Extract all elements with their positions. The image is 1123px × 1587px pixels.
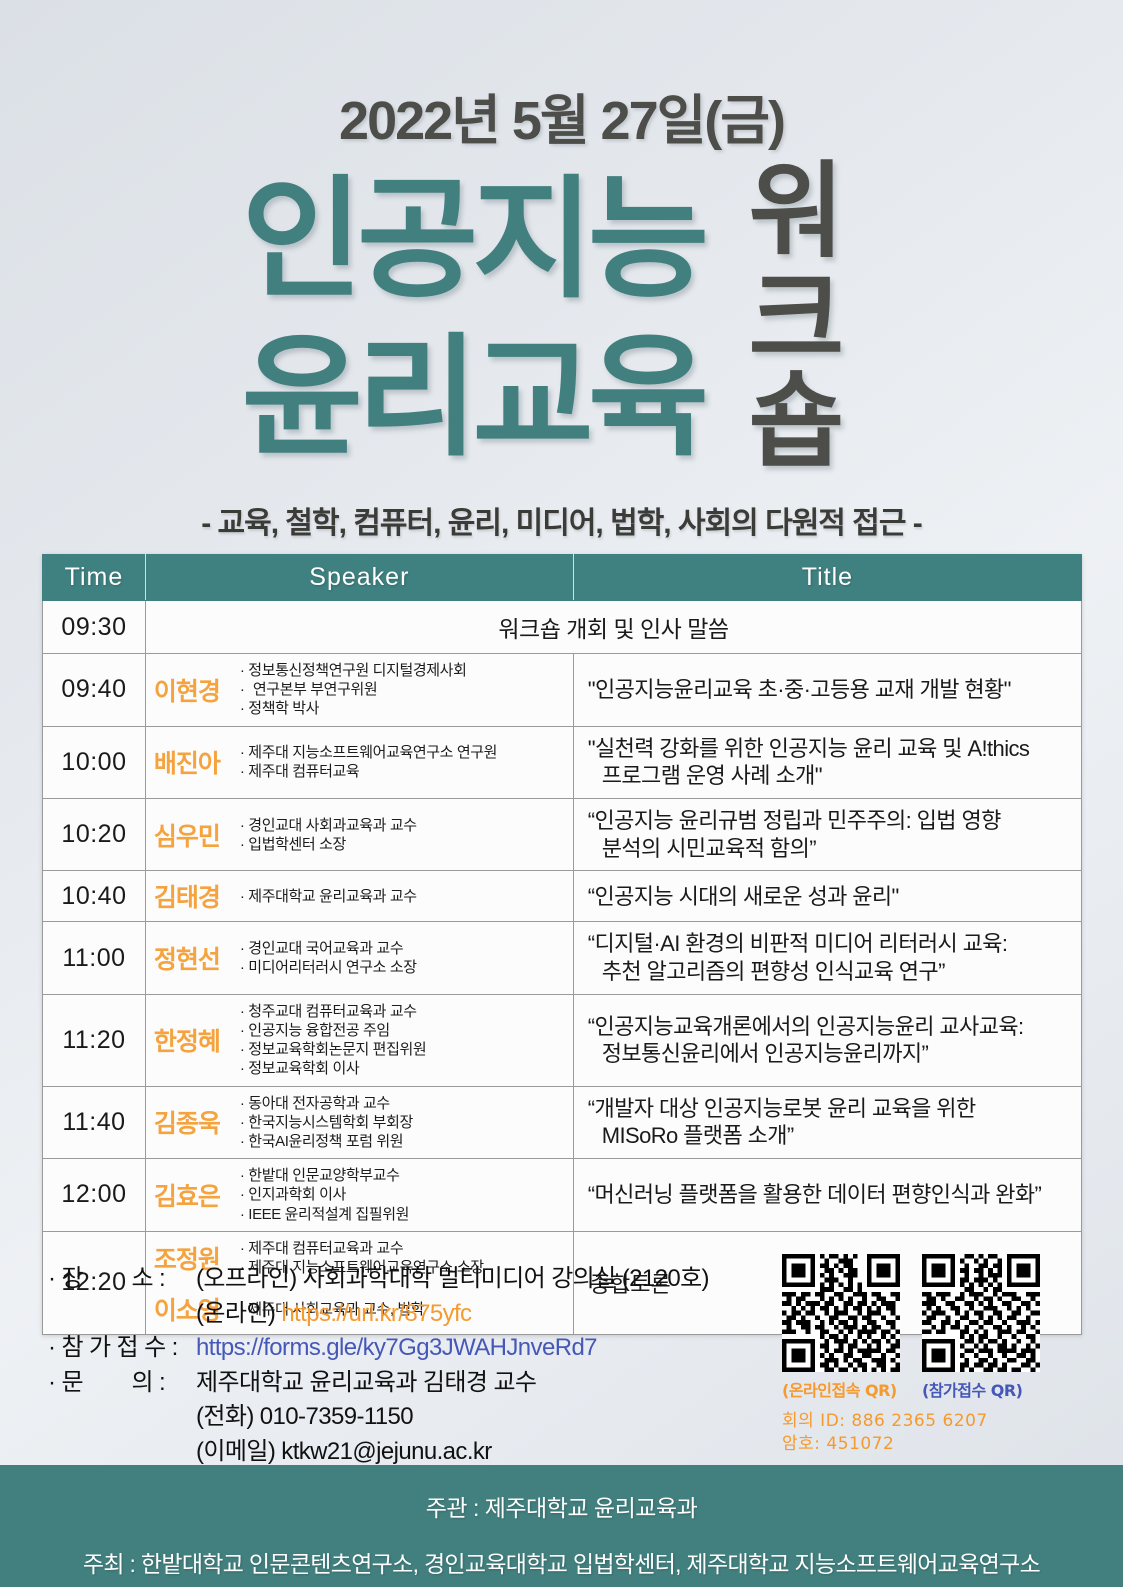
title-line-ai: 인공지능 xyxy=(242,174,704,306)
event-info: · 장 소 : (오프라인) 사회과학대학 멀티미디어 강의실 (2120호) … xyxy=(48,1262,788,1469)
affiliation-line: 미디어리터러시 연구소 소장 xyxy=(240,958,417,977)
session-time: 09:30 xyxy=(43,601,146,654)
register-label: · 참 가 접 수 : xyxy=(48,1331,196,1366)
affiliation-line: 인지과학회 이사 xyxy=(240,1185,409,1204)
session-speaker-cell: 김종욱 동아대 전자공학과 교수 한국지능시스템학회 부회장 한국AI윤리정책 … xyxy=(145,1086,573,1159)
column-header-speaker: Speaker xyxy=(145,555,573,601)
speaker-affiliations: 정보통신정책연구원 디지털경제사회 ·연구본부 부연구위원 정책학 박사 xyxy=(240,661,467,719)
table-row: 11:00 정현선 경인교대 국어교육과 교수 미디어리터러시 연구소 소장 “… xyxy=(43,922,1082,994)
speaker-name: 심우민 xyxy=(154,817,232,853)
session-time: 11:00 xyxy=(43,922,146,994)
speaker-affiliations: 청주교대 컴퓨터교육과 교수 인공지능 융합전공 주임 정보교육학회논문지 편집… xyxy=(240,1002,426,1079)
table-row: 11:20 한정혜 청주교대 컴퓨터교육과 교수 인공지능 융합전공 주임 정보… xyxy=(43,994,1082,1086)
speaker-entry: 김태경 제주대학교 윤리교육과 교수 xyxy=(154,878,567,914)
affiliation-line: 제주대학교 윤리교육과 교수 xyxy=(240,887,417,906)
affiliation-line: 한국AI윤리정책 포럼 위원 xyxy=(240,1132,413,1151)
contact-person: 제주대학교 윤리교육과 김태경 교수 xyxy=(196,1366,536,1401)
session-time: 12:00 xyxy=(43,1159,146,1232)
title-line-ethics-education: 윤리교육 xyxy=(242,332,704,464)
session-speaker-cell: 배진아 제주대 지능소프트웨어교육연구소 연구원 제주대 컴퓨터교육 xyxy=(145,726,573,798)
venue-online-row: (온라인) https://url.kr/875yfc xyxy=(48,1297,788,1332)
speaker-name: 김태경 xyxy=(154,878,232,914)
qr-register-caption: (참가접수 QR) xyxy=(922,1377,1040,1401)
speaker-name: 김효은 xyxy=(154,1177,232,1213)
session-title-line: "실천력 강화를 위한 인공지능 윤리 교육 및 A!thics xyxy=(588,735,1071,763)
table-row: 09:40 이현경 정보통신정책연구원 디지털경제사회 ·연구본부 부연구위원 … xyxy=(43,654,1082,727)
session-title-cell: “디지털·AI 환경의 비판적 미디어 리터러시 교육: 추천 알고리즘의 편향… xyxy=(573,922,1081,994)
session-title-line: “개발자 대상 인공지능로봇 윤리 교육을 위한 xyxy=(588,1095,1071,1123)
affiliation-line: 청주교대 컴퓨터교육과 교수 xyxy=(240,1002,426,1021)
affiliation-line: 정보교육학회논문지 편집위원 xyxy=(240,1040,426,1059)
qr-code-online-icon[interactable] xyxy=(782,1254,900,1372)
venue-online-url[interactable]: https://url.kr/875yfc xyxy=(281,1300,471,1327)
affiliation-line: 정보교육학회 이사 xyxy=(240,1059,426,1078)
meeting-passcode: 암호: 451072 xyxy=(782,1433,1082,1456)
affiliation-line: 정보통신정책연구원 디지털경제사회 xyxy=(240,661,467,680)
qr-code-register-icon[interactable] xyxy=(922,1254,1040,1372)
qr-section: (온라인접속 QR) xyxy=(782,1254,1082,1456)
contact-row: · 문 의 : 제주대학교 윤리교육과 김태경 교수 xyxy=(48,1366,788,1401)
affiliation-line: 경인교대 국어교육과 교수 xyxy=(240,939,417,958)
session-time: 10:40 xyxy=(43,871,146,922)
table-header-row: Time Speaker Title xyxy=(43,555,1082,601)
speaker-entry: 정현선 경인교대 국어교육과 교수 미디어리터러시 연구소 소장 xyxy=(154,939,567,977)
speaker-affiliations: 제주대 지능소프트웨어교육연구소 연구원 제주대 컴퓨터교육 xyxy=(240,743,497,781)
register-url[interactable]: https://forms.gle/ky7Gg3JWAHJnveRd7 xyxy=(196,1331,597,1366)
qr-online-caption: (온라인접속 QR) xyxy=(782,1377,900,1401)
session-speaker-cell: 한정혜 청주교대 컴퓨터교육과 교수 인공지능 융합전공 주임 정보교육학회논문… xyxy=(145,994,573,1086)
footer-organizers: 주최 : 한밭대학교 인문콘텐츠연구소, 경인교육대학교 입법학센터, 제주대학… xyxy=(0,1545,1123,1579)
speaker-affiliations: 동아대 전자공학과 교수 한국지능시스템학회 부회장 한국AI윤리정책 포럼 위… xyxy=(240,1094,413,1152)
speaker-affiliations: 제주대학교 윤리교육과 교수 xyxy=(240,887,417,906)
affiliation-line: 인공지능 융합전공 주임 xyxy=(240,1021,426,1040)
session-title-line: "인공지능윤리교육 초·중·고등용 교재 개발 현황" xyxy=(588,676,1071,704)
session-title-line: “머신러닝 플랫폼을 활용한 데이터 편향인식과 완화” xyxy=(588,1181,1071,1209)
affiliation-line-cont: ·연구본부 부연구위원 xyxy=(240,680,467,699)
qr-online-block: (온라인접속 QR) xyxy=(782,1254,900,1401)
session-title-cell: “인공지능 윤리규범 정립과 민주주의: 입법 영향 분석의 시민교육적 함의” xyxy=(573,799,1081,871)
event-date: 2022년 5월 27일(금) xyxy=(0,76,1123,155)
speaker-affiliations: 경인교대 사회과교육과 교수 입법학센터 소장 xyxy=(240,816,417,854)
table-row: 12:00 김효은 한밭대 인문교양학부교수 인지과학회 이사 IEEE 윤리적… xyxy=(43,1159,1082,1232)
speaker-name: 배진아 xyxy=(154,744,232,780)
session-title-cell: “개발자 대상 인공지능로봇 윤리 교육을 위한 MISoRo 플랫폼 소개” xyxy=(573,1086,1081,1159)
session-time: 11:20 xyxy=(43,994,146,1086)
affiliation-line: 입법학센터 소장 xyxy=(240,835,417,854)
contact-phone: (전화) 010-7359-1150 xyxy=(48,1400,788,1435)
session-speaker-cell: 김태경 제주대학교 윤리교육과 교수 xyxy=(145,871,573,922)
poster-subtitle: - 교육, 철학, 컴퓨터, 윤리, 미디어, 법학, 사회의 다원적 접근 - xyxy=(0,498,1123,542)
column-header-title: Title xyxy=(573,555,1081,601)
title-char-syop: 숍 xyxy=(749,370,841,474)
affiliation-line: 제주대 컴퓨터교육과 교수 xyxy=(240,1239,484,1258)
speaker-affiliations: 경인교대 국어교육과 교수 미디어리터러시 연구소 소장 xyxy=(240,939,417,977)
speaker-affiliations: 한밭대 인문교양학부교수 인지과학회 이사 IEEE 윤리적설계 집필위원 xyxy=(240,1166,409,1224)
session-title-cell: “인공지능 시대의 새로운 성과 윤리" xyxy=(573,871,1081,922)
session-speaker-cell: 심우민 경인교대 사회과교육과 교수 입법학센터 소장 xyxy=(145,799,573,871)
session-time: 11:40 xyxy=(43,1086,146,1159)
session-title-cell: "인공지능윤리교육 초·중·고등용 교재 개발 현황" xyxy=(573,654,1081,727)
session-title-line: “인공지능 윤리규범 정립과 민주주의: 입법 영향 xyxy=(588,807,1071,835)
session-title-line: “디지털·AI 환경의 비판적 미디어 리터러시 교육: xyxy=(588,930,1071,958)
session-title-cell: “인공지능교육개론에서의 인공지능윤리 교사교육: 정보통신윤리에서 인공지능윤… xyxy=(573,994,1081,1086)
session-speaker-cell: 정현선 경인교대 국어교육과 교수 미디어리터러시 연구소 소장 xyxy=(145,922,573,994)
session-time: 10:00 xyxy=(43,726,146,798)
session-title-line: 분석의 시민교육적 함의” xyxy=(588,835,1071,863)
speaker-name: 김종욱 xyxy=(154,1104,232,1140)
speaker-entry: 김종욱 동아대 전자공학과 교수 한국지능시스템학회 부회장 한국AI윤리정책 … xyxy=(154,1094,567,1152)
meeting-credentials: 회의 ID: 886 2365 6207 암호: 451072 xyxy=(782,1410,1082,1456)
meeting-id: 회의 ID: 886 2365 6207 xyxy=(782,1410,1082,1433)
session-speaker-cell: 이현경 정보통신정책연구원 디지털경제사회 ·연구본부 부연구위원 정책학 박사 xyxy=(145,654,573,727)
table-row: 10:20 심우민 경인교대 사회과교육과 교수 입법학센터 소장 “인공지능 … xyxy=(43,799,1082,871)
speaker-entry: 배진아 제주대 지능소프트웨어교육연구소 연구원 제주대 컴퓨터교육 xyxy=(154,743,567,781)
session-title-cell: “머신러닝 플랫폼을 활용한 데이터 편향인식과 완화” xyxy=(573,1159,1081,1232)
session-title-line: 프로그램 운영 사례 소개" xyxy=(588,762,1071,790)
session-title-line: MISoRo 플랫폼 소개” xyxy=(588,1122,1071,1150)
qr-register-block: (참가접수 QR) xyxy=(922,1254,1040,1401)
venue-offline: (오프라인) 사회과학대학 멀티미디어 강의실 (2120호) xyxy=(196,1262,709,1297)
session-title-line: “인공지능교육개론에서의 인공지능윤리 교사교육: xyxy=(588,1013,1071,1041)
session-title-cell: "실천력 강화를 위한 인공지능 윤리 교육 및 A!thics 프로그램 운영… xyxy=(573,726,1081,798)
affiliation-line: IEEE 윤리적설계 집필위원 xyxy=(240,1205,409,1224)
venue-online-label: (온라인) xyxy=(196,1300,275,1327)
affiliation-line: 한밭대 인문교양학부교수 xyxy=(240,1166,409,1185)
title-char-wo: 워 xyxy=(749,160,841,264)
table-row: 11:40 김종욱 동아대 전자공학과 교수 한국지능시스템학회 부회장 한국A… xyxy=(43,1086,1082,1159)
table-row: 09:30 워크숍 개회 및 인사 말씀 xyxy=(43,601,1082,654)
register-row: · 참 가 접 수 : https://forms.gle/ky7Gg3JWAH… xyxy=(48,1331,788,1366)
table-row: 10:00 배진아 제주대 지능소프트웨어교육연구소 연구원 제주대 컴퓨터교육… xyxy=(43,726,1082,798)
session-time: 09:40 xyxy=(43,654,146,727)
affiliation-line: 정책학 박사 xyxy=(240,699,467,718)
session-title-line: 정보통신윤리에서 인공지능윤리까지” xyxy=(588,1040,1071,1068)
session-opening-remarks: 워크숍 개회 및 인사 말씀 xyxy=(145,601,1081,654)
footer-host: 주관 : 제주대학교 윤리교육과 xyxy=(0,1489,1123,1523)
venue-row: · 장 소 : (오프라인) 사회과학대학 멀티미디어 강의실 (2120호) xyxy=(48,1262,788,1297)
schedule-table: Time Speaker Title 09:30 워크숍 개회 및 인사 말씀 … xyxy=(42,554,1082,1335)
speaker-entry: 심우민 경인교대 사회과교육과 교수 입법학센터 소장 xyxy=(154,816,567,854)
contact-label: · 문 의 : xyxy=(48,1366,196,1401)
affiliation-line: 한국지능시스템학회 부회장 xyxy=(240,1113,413,1132)
affiliation-line: 제주대 지능소프트웨어교육연구소 연구원 xyxy=(240,743,497,762)
speaker-name: 한정혜 xyxy=(154,1022,232,1058)
poster-footer: 주관 : 제주대학교 윤리교육과 주최 : 한밭대학교 인문콘텐츠연구소, 경인… xyxy=(0,1465,1123,1587)
table-row: 10:40 김태경 제주대학교 윤리교육과 교수 “인공지능 시대의 새로운 성… xyxy=(43,871,1082,922)
session-title-line: “인공지능 시대의 새로운 성과 윤리" xyxy=(588,883,1071,911)
title-char-keu: 크 xyxy=(749,268,841,372)
affiliation-line: 동아대 전자공학과 교수 xyxy=(240,1094,413,1113)
session-time: 10:20 xyxy=(43,799,146,871)
poster-title: 인공지능 윤리교육 워 크 숍 xyxy=(0,160,1123,490)
speaker-name: 이현경 xyxy=(154,672,232,708)
speaker-entry: 김효은 한밭대 인문교양학부교수 인지과학회 이사 IEEE 윤리적설계 집필위… xyxy=(154,1166,567,1224)
speaker-name: 정현선 xyxy=(154,940,232,976)
affiliation-line: 경인교대 사회과교육과 교수 xyxy=(240,816,417,835)
session-speaker-cell: 김효은 한밭대 인문교양학부교수 인지과학회 이사 IEEE 윤리적설계 집필위… xyxy=(145,1159,573,1232)
affiliation-line: 제주대 컴퓨터교육 xyxy=(240,762,497,781)
speaker-entry: 이현경 정보통신정책연구원 디지털경제사회 ·연구본부 부연구위원 정책학 박사 xyxy=(154,661,567,719)
speaker-entry: 한정혜 청주교대 컴퓨터교육과 교수 인공지능 융합전공 주임 정보교육학회논문… xyxy=(154,1002,567,1079)
column-header-time: Time xyxy=(43,555,146,601)
venue-label: · 장 소 : xyxy=(48,1262,196,1297)
session-title-line: 추천 알고리즘의 편향성 인식교육 연구” xyxy=(588,958,1071,986)
